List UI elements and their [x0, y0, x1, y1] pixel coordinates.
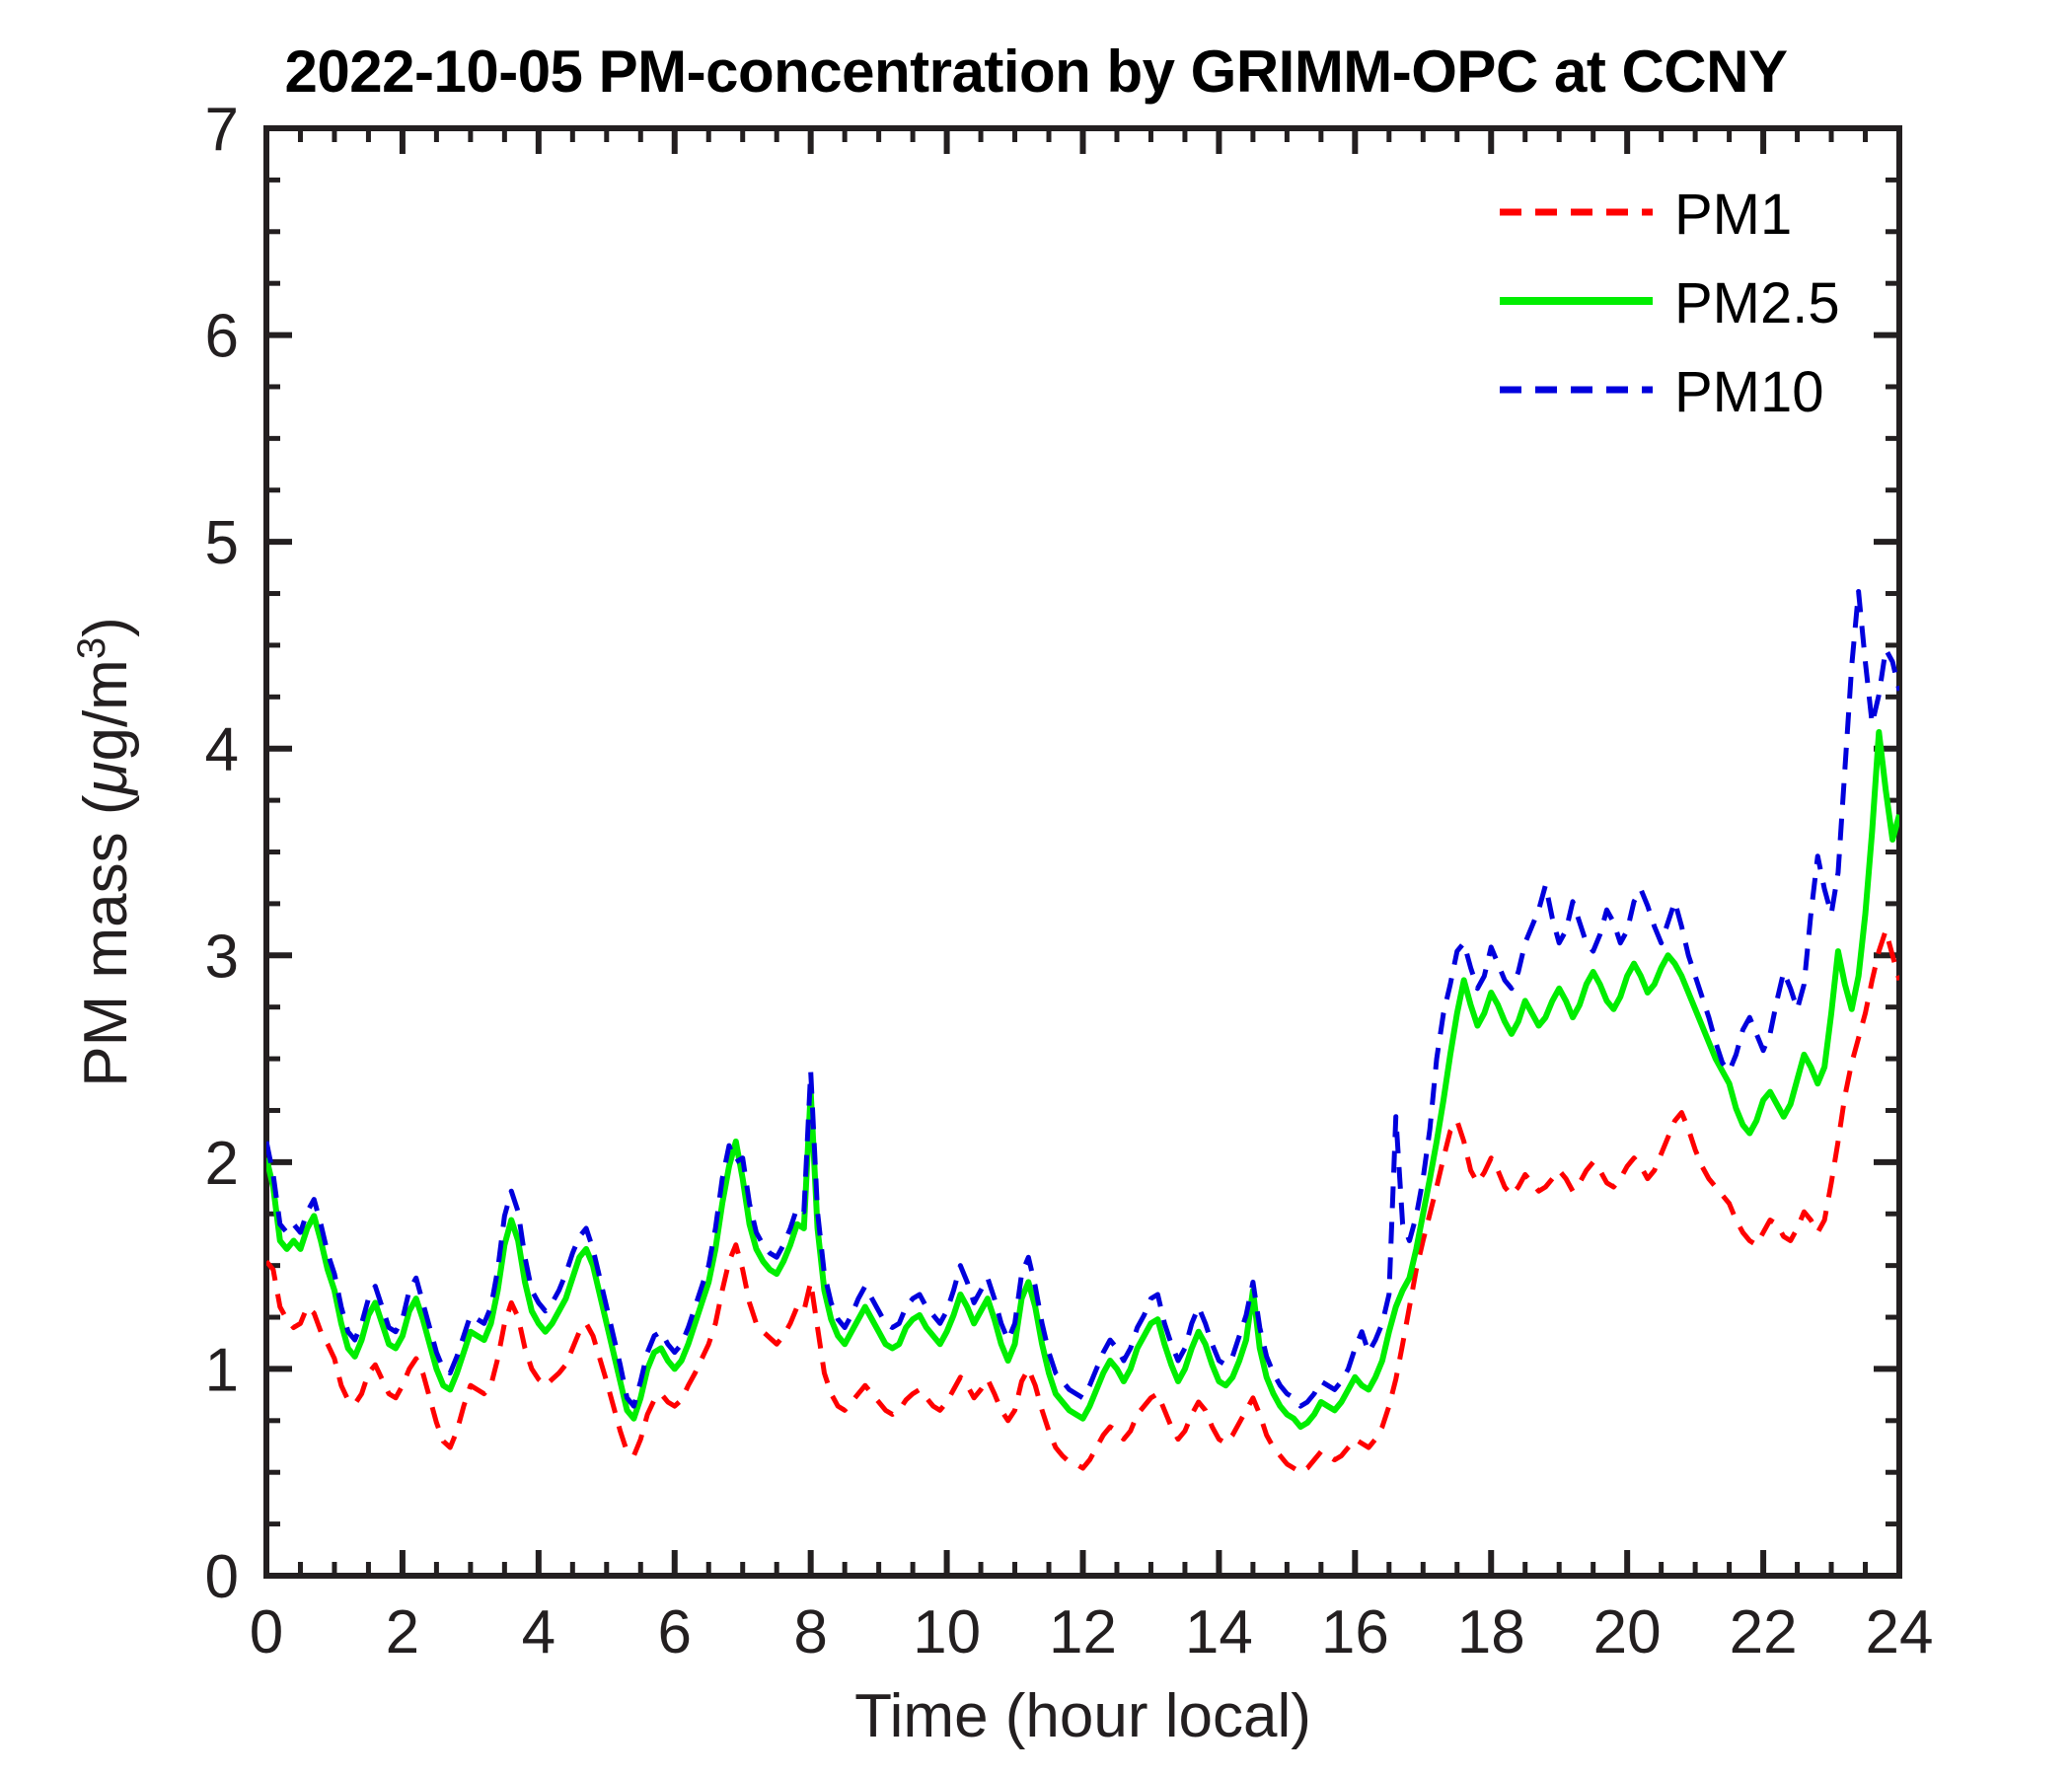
x-axis-title: Time (hour local): [854, 1682, 1311, 1750]
series-line-pm1: [266, 930, 1899, 1472]
x-tick-label: 8: [793, 1598, 827, 1666]
x-tick-label: 10: [913, 1598, 981, 1666]
series-line-pm2-5: [266, 732, 1899, 1427]
figure-container: 2022-10-05 PM-concentration by GRIMM-OPC…: [0, 0, 2072, 1776]
x-tick-label: 18: [1457, 1598, 1525, 1666]
y-tick-label: 5: [205, 509, 239, 577]
axis-labels-group: 02468101214161820222401234567Time (hour …: [70, 96, 1933, 1750]
y-axis-title: PM mass (μg/m3): [70, 617, 140, 1086]
x-tick-label: 16: [1321, 1598, 1389, 1666]
x-tick-label: 6: [658, 1598, 692, 1666]
x-tick-label: 24: [1866, 1598, 1934, 1666]
y-tick-label: 2: [205, 1130, 239, 1198]
x-tick-label: 0: [250, 1598, 283, 1666]
x-tick-label: 14: [1185, 1598, 1253, 1666]
y-tick-label: 0: [205, 1543, 239, 1611]
axes-group: [266, 128, 1899, 1576]
series-line-pm10: [266, 591, 1899, 1406]
x-tick-label: 4: [522, 1598, 555, 1666]
x-tick-label: 20: [1593, 1598, 1662, 1666]
y-tick-label: 7: [205, 96, 239, 164]
x-tick-label: 22: [1730, 1598, 1798, 1666]
legend-group: PM1PM2.5PM10: [1500, 183, 1840, 424]
legend-label-pm1: PM1: [1674, 183, 1792, 247]
x-tick-label: 2: [386, 1598, 419, 1666]
y-tick-label: 3: [205, 923, 239, 991]
series-group: [266, 591, 1899, 1472]
y-tick-label: 6: [205, 303, 239, 371]
plot-frame: [266, 128, 1899, 1576]
legend-label-pm10: PM10: [1674, 360, 1824, 424]
y-tick-label: 4: [205, 716, 239, 784]
chart-canvas: PM1PM2.5PM10 024681012141618202224012345…: [0, 0, 2072, 1776]
x-tick-label: 12: [1049, 1598, 1117, 1666]
legend-label-pm2-5: PM2.5: [1674, 271, 1840, 335]
y-tick-label: 1: [205, 1336, 239, 1404]
